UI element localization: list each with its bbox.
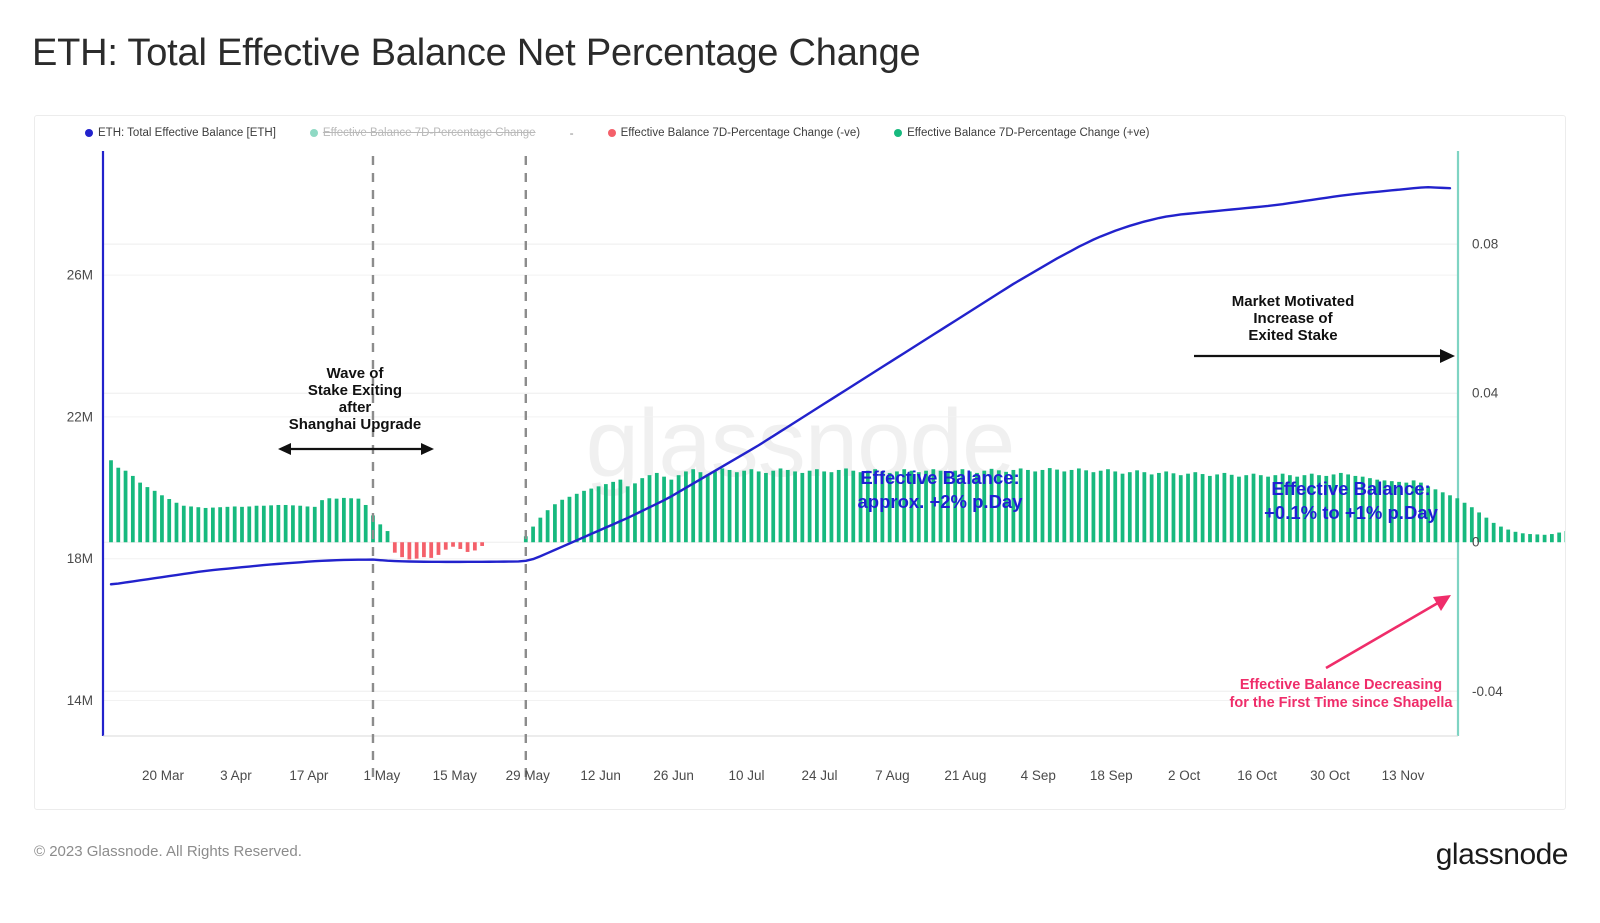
bar-negative: [407, 542, 411, 559]
legend-color-dot: [310, 129, 318, 137]
bar-positive: [1172, 473, 1176, 542]
bar-negative: [393, 542, 397, 552]
x-axis-tick: 2 Oct: [1168, 768, 1201, 783]
bar-positive: [837, 470, 841, 542]
bar-positive: [742, 471, 746, 543]
bar-positive: [364, 505, 368, 542]
bar-positive: [604, 484, 608, 542]
footer-copyright: © 2023 Glassnode. All Rights Reserved.: [34, 843, 302, 860]
bar-positive: [1237, 477, 1241, 543]
bar-positive: [146, 487, 150, 542]
bar-positive: [1521, 533, 1525, 542]
bar-positive: [1048, 468, 1052, 542]
bar-positive: [1455, 498, 1459, 542]
bar-positive: [167, 499, 171, 542]
y-axis-right-tick: 0.04: [1472, 386, 1499, 401]
bar-negative: [444, 542, 448, 549]
bar-positive: [291, 505, 295, 542]
y-axis-right-tick: 0: [1472, 535, 1480, 550]
x-axis-tick: 17 Apr: [289, 768, 329, 783]
legend-item-label: Effective Balance 7D-Percentage Change (…: [907, 127, 1149, 139]
bar-positive: [706, 474, 710, 542]
bar-positive: [669, 480, 673, 543]
bar-positive: [276, 505, 280, 542]
x-axis-tick: 10 Jul: [729, 768, 765, 783]
bar-positive: [320, 500, 324, 542]
bar-negative: [422, 542, 426, 557]
arrow-market-motivated: [1194, 349, 1455, 363]
y-axis-right-tick: 0.08: [1472, 237, 1498, 252]
bar-positive: [1070, 470, 1074, 542]
bar-positive: [204, 508, 208, 542]
y-axis-left-tick: 26M: [67, 268, 93, 283]
legend-item-label: ETH: Total Effective Balance [ETH]: [98, 127, 276, 139]
bar-positive: [764, 473, 768, 542]
bar-positive: [575, 494, 579, 542]
bar-positive: [800, 473, 804, 542]
bar-negative: [473, 542, 477, 550]
x-axis-tick: 12 Jun: [580, 768, 621, 783]
annotation-line: Exited Stake: [1248, 327, 1337, 344]
bar-positive: [196, 507, 200, 542]
bar-negative: [480, 542, 484, 546]
y-axis-right-labels: -0.0400.040.08: [1472, 237, 1503, 699]
annotation-line: +0.1% to +1% p.Day: [1264, 502, 1438, 523]
bar-negative: [451, 542, 455, 546]
bar-positive: [306, 506, 310, 542]
x-axis-tick: 24 Jul: [801, 768, 837, 783]
bar-positive: [1448, 495, 1452, 542]
x-axis-tick: 26 Jun: [653, 768, 694, 783]
bar-positive: [262, 506, 266, 543]
bar-positive: [1121, 474, 1125, 543]
bar-positive: [1055, 470, 1059, 543]
bar-positive: [553, 504, 557, 542]
bar-negative: [429, 542, 433, 558]
bar-positive: [1259, 475, 1263, 542]
bar-positive: [568, 497, 572, 542]
bar-positive: [1077, 468, 1081, 542]
bar-positive: [582, 491, 586, 542]
bar-positive: [662, 477, 666, 543]
annotation-line: Effective Balance:: [860, 467, 1019, 488]
bar-positive: [808, 471, 812, 543]
bar-positive: [786, 470, 790, 542]
bar-positive: [560, 500, 564, 542]
bar-positive: [1252, 474, 1256, 543]
annotation-line: Effective Balance:: [1271, 478, 1430, 499]
legend-item-label: Effective Balance 7D-Percentage Change (…: [621, 127, 861, 139]
chart-plot-area[interactable]: glassnode 14M18M22M26M -0.0400.040.08 20…: [35, 116, 1565, 806]
bar-positive: [771, 471, 775, 543]
bar-positive: [815, 469, 819, 542]
annotation-balance-decreasing: Effective Balance Decreasing for the Fir…: [1230, 595, 1454, 711]
bar-positive: [1514, 532, 1518, 542]
bar-positive: [626, 486, 630, 542]
bar-positive: [1164, 471, 1168, 542]
bar-positive: [153, 491, 157, 542]
bar-positive: [728, 470, 732, 542]
bar-positive: [255, 506, 259, 543]
bar-positive: [720, 468, 724, 542]
bar-positive: [335, 499, 339, 543]
bar-positive: [233, 506, 237, 542]
bar-positive: [1128, 472, 1132, 542]
bar-positive: [1084, 470, 1088, 542]
y-axis-right-tick: -0.04: [1472, 684, 1503, 699]
bar-positive: [298, 506, 302, 543]
bar-positive: [1062, 471, 1066, 542]
bar-positive: [1499, 527, 1503, 543]
x-axis-tick: 7 Aug: [875, 768, 910, 783]
bar-positive: [182, 506, 186, 543]
annotation-line: approx. +2% p.Day: [857, 491, 1023, 512]
x-axis-tick: 18 Sep: [1090, 768, 1133, 783]
annotation-line: Shanghai Upgrade: [289, 416, 422, 433]
annotation-line: Market Motivated: [1232, 293, 1355, 310]
bar-positive: [611, 482, 615, 542]
x-axis-tick: 30 Oct: [1310, 768, 1350, 783]
bar-negative: [437, 542, 441, 555]
bar-positive: [378, 524, 382, 542]
bar-positive: [1201, 474, 1205, 542]
x-axis-tick: 4 Sep: [1021, 768, 1056, 783]
legend-item-7d-percentage-change-negative[interactable]: Effective Balance 7D-Percentage Change (…: [608, 127, 861, 139]
bar-positive: [1230, 475, 1234, 542]
bar-positive: [349, 498, 353, 542]
annotation-line: Effective Balance Decreasing: [1240, 677, 1442, 693]
bar-positive: [691, 469, 695, 542]
x-axis-tick: 13 Nov: [1382, 768, 1425, 783]
bar-positive: [844, 468, 848, 542]
footer-logo: glassnode: [1436, 838, 1568, 872]
bar-positive: [793, 471, 797, 542]
bar-positive: [546, 510, 550, 542]
bar-positive: [1041, 470, 1045, 542]
annotation-market-motivated: Market Motivated Increase of Exited Stak…: [1194, 293, 1455, 363]
bar-negative: [458, 542, 462, 549]
legend-item-7d-percentage-change-positive[interactable]: Effective Balance 7D-Percentage Change (…: [894, 127, 1149, 139]
bar-positive: [1113, 471, 1117, 542]
x-axis-tick: 16 Oct: [1237, 768, 1277, 783]
legend-item-label: Effective Balance 7D-Percentage Change: [323, 127, 536, 139]
x-axis-tick: 3 Apr: [220, 768, 252, 783]
x-axis-tick: 29 May: [506, 768, 551, 783]
x-axis-labels: 20 Mar3 Apr17 Apr1 May15 May29 May12 Jun…: [142, 768, 1425, 783]
bar-positive: [713, 471, 717, 542]
bar-positive: [1535, 534, 1539, 542]
bar-positive: [386, 531, 390, 542]
legend-color-dot: [894, 129, 902, 137]
bar-positive: [1026, 470, 1030, 542]
bar-positive: [1106, 469, 1110, 542]
bar-positive: [124, 471, 128, 543]
bar-positive: [684, 471, 688, 542]
bar-positive: [619, 480, 623, 543]
bar-positive: [189, 506, 193, 542]
bar-positive: [597, 486, 601, 542]
bar-positive: [284, 505, 288, 542]
y-axis-left-tick: 22M: [67, 409, 93, 424]
y-axis-left-tick: 14M: [67, 693, 93, 708]
bar-positive: [116, 468, 120, 543]
bar-positive: [531, 527, 535, 543]
bar-positive: [218, 507, 222, 542]
bar-negative: [466, 542, 470, 552]
bar-positive: [1550, 534, 1554, 542]
bar-positive: [1223, 473, 1227, 542]
bar-positive: [1215, 474, 1219, 542]
chart-page: ETH: Total Effective Balance Net Percent…: [0, 0, 1600, 923]
legend-item-7d-percentage-change[interactable]: Effective Balance 7D-Percentage Change: [310, 127, 536, 139]
arrow-balance-decreasing: [1326, 595, 1451, 668]
bar-positive: [1485, 518, 1489, 543]
bar-positive: [1208, 476, 1212, 542]
bar-positive: [342, 498, 346, 542]
bar-positive: [1244, 475, 1248, 542]
bar-positive: [1492, 523, 1496, 542]
bar-positive: [226, 507, 230, 542]
bar-positive: [211, 508, 215, 543]
bar-positive: [109, 460, 113, 542]
x-axis-tick: 15 May: [433, 768, 478, 783]
annotation-line: Increase of: [1253, 310, 1333, 327]
bar-positive: [175, 503, 179, 542]
bar-positive: [1506, 530, 1510, 543]
bar-positive: [131, 476, 135, 542]
bar-positive: [1441, 492, 1445, 542]
bar-positive: [822, 471, 826, 542]
annotation-shanghai-wave: Wave of Stake Exiting after Shanghai Upg…: [278, 365, 434, 455]
annotation-line: Wave of: [327, 365, 385, 382]
bar-positive: [1099, 471, 1103, 543]
bar-positive: [1186, 474, 1190, 543]
y-axis-left-tick: 18M: [67, 551, 93, 566]
x-axis-tick: 1 May: [363, 768, 400, 783]
bar-positive: [677, 475, 681, 542]
bar-positive: [313, 507, 317, 542]
bar-positive: [357, 499, 361, 543]
bar-positive: [699, 472, 703, 542]
bar-positive: [1142, 472, 1146, 542]
bar-positive: [1033, 471, 1037, 542]
annotation-line: after: [339, 399, 372, 416]
bar-positive: [1157, 473, 1161, 542]
x-axis-tick: 20 Mar: [142, 768, 185, 783]
bar-positive: [160, 495, 164, 542]
bar-positive: [750, 469, 754, 542]
bar-positive: [655, 473, 659, 542]
bar-positive: [830, 472, 834, 542]
bar-positive: [1528, 534, 1532, 542]
bar-positive: [1557, 533, 1561, 543]
bar-positive: [327, 498, 331, 542]
annotation-line: for the First Time since Shapella: [1230, 695, 1454, 711]
page-title: ETH: Total Effective Balance Net Percent…: [32, 32, 920, 75]
bar-positive: [269, 505, 273, 542]
bar-positive: [240, 507, 244, 542]
bar-positive: [851, 471, 855, 543]
legend-color-dot: [85, 129, 93, 137]
bar-negative: [400, 542, 404, 557]
bar-negative: [415, 542, 419, 558]
bar-positive: [1543, 535, 1547, 542]
bar-positive: [757, 471, 761, 542]
bar-positive: [1092, 472, 1096, 542]
chart-card: ETH: Total Effective Balance [ETH] Effec…: [34, 115, 1566, 810]
legend-color-dot: [608, 129, 616, 137]
double-arrow-shanghai: [278, 443, 434, 455]
bar-positive: [1463, 503, 1467, 542]
legend-item-total-effective-balance[interactable]: ETH: Total Effective Balance [ETH]: [85, 127, 276, 139]
bar-positive: [1150, 474, 1154, 542]
bar-positive: [735, 472, 739, 542]
bar-positive: [247, 506, 251, 542]
bar-positive: [538, 518, 542, 543]
bar-positive: [1179, 475, 1183, 542]
annotation-line: Stake Exiting: [308, 382, 402, 399]
bar-positive: [779, 468, 783, 542]
x-axis-tick: 21 Aug: [944, 768, 986, 783]
bar-positive: [1193, 472, 1197, 542]
y-axis-left-labels: 14M18M22M26M: [67, 268, 93, 708]
chart-legend: ETH: Total Effective Balance [ETH] Effec…: [85, 126, 1183, 140]
bar-positive: [1135, 470, 1139, 542]
legend-separator: -: [570, 126, 574, 140]
bar-positive: [138, 483, 142, 543]
